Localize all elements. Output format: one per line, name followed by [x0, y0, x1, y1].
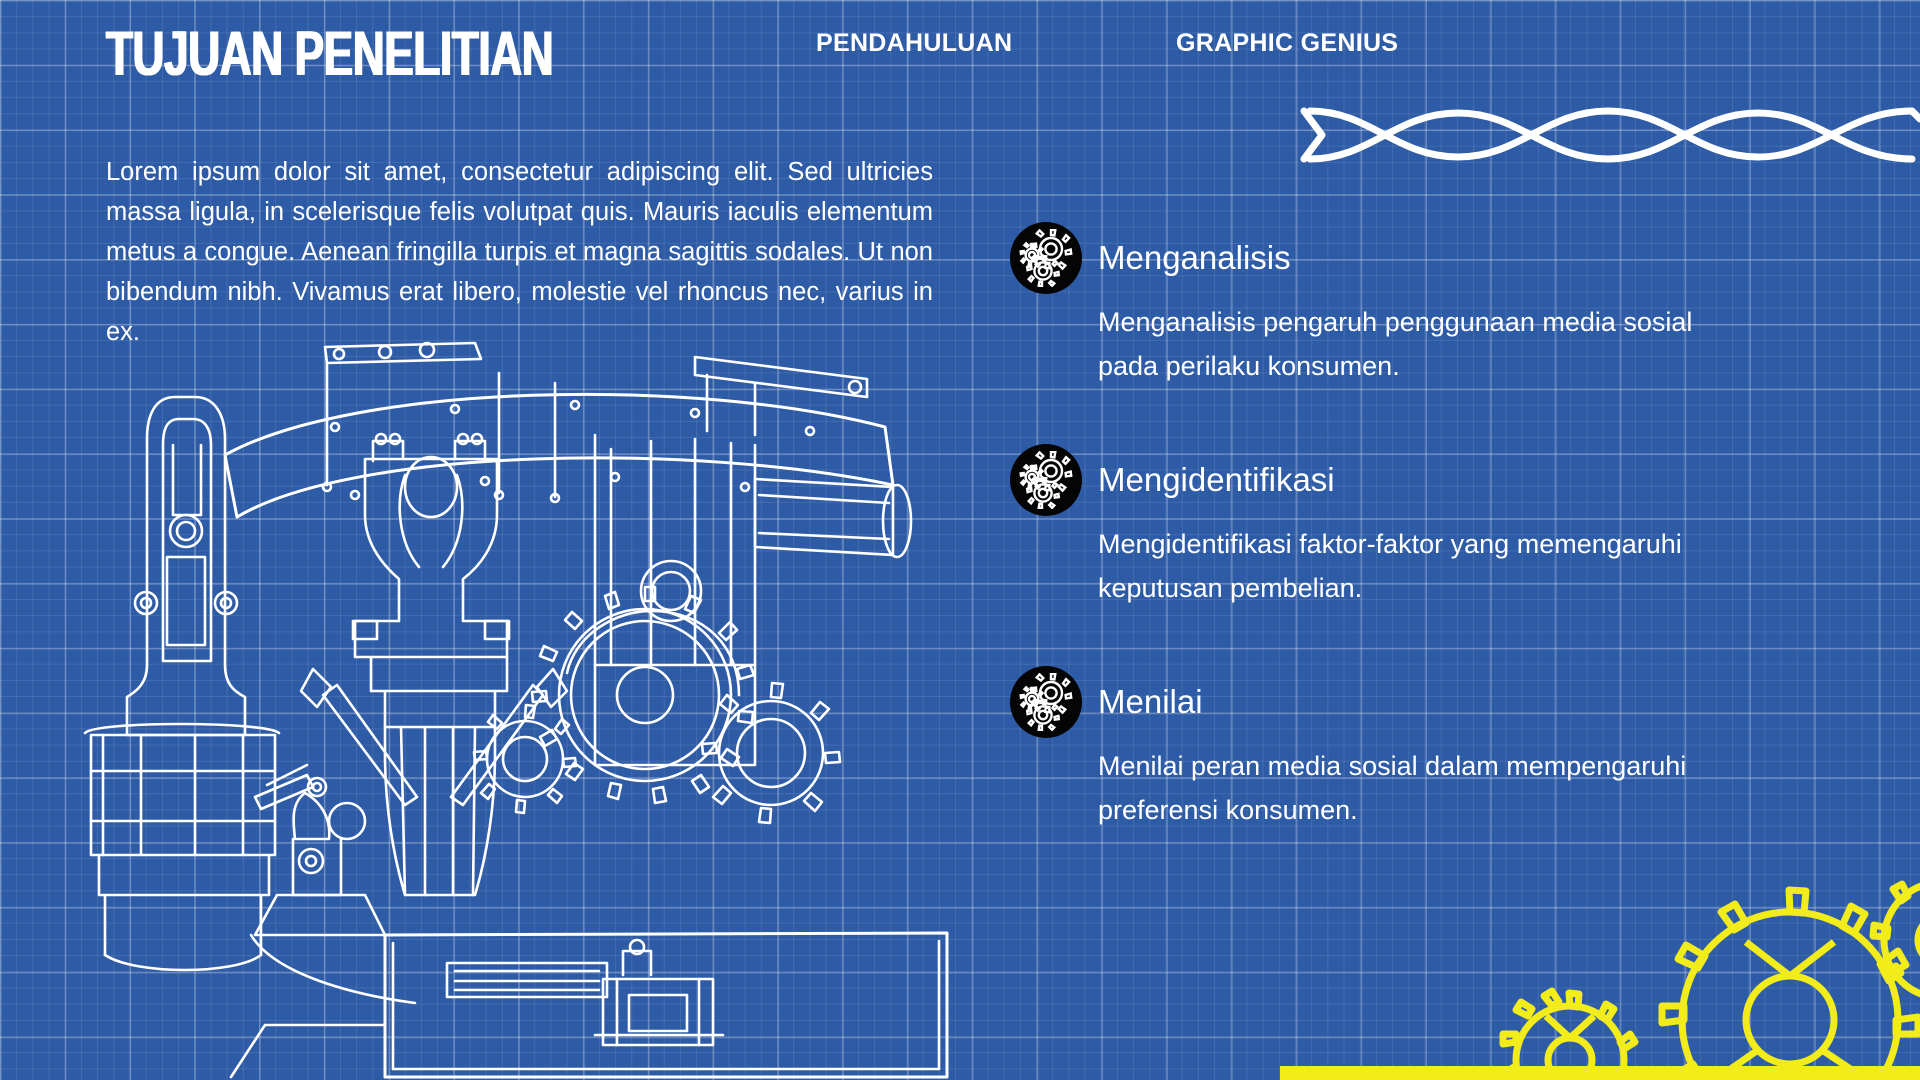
intro-paragraph: Lorem ipsum dolor sit amet, consectetur … — [106, 152, 933, 352]
header-bar: TUJUAN PENELITIAN PENDAHULUAN GRAPHIC GE… — [0, 0, 1920, 100]
gears-icon — [1010, 666, 1082, 738]
objective-item[interactable]: Menilai Menilai peran media sosial dalam… — [1010, 666, 1790, 832]
gears-icon — [1010, 222, 1082, 294]
header-section-label: PENDAHULUAN — [816, 29, 1012, 58]
objective-body: Menilai peran media sosial dalam mempeng… — [1098, 744, 1698, 832]
objective-header: Menganalisis — [1010, 222, 1790, 294]
gears-icon — [1010, 444, 1082, 516]
header-brand-label: GRAPHIC GENIUS — [1176, 29, 1398, 58]
objective-title: Menganalisis — [1098, 239, 1291, 277]
objectives-list: Menganalisis Menganalisis pengaruh pengg… — [1010, 222, 1790, 888]
objective-body: Mengidentifikasi faktor-faktor yang meme… — [1098, 522, 1698, 610]
objective-title: Menilai — [1098, 683, 1203, 721]
objective-item[interactable]: Menganalisis Menganalisis pengaruh pengg… — [1010, 222, 1790, 388]
rope-helix-graphic — [1300, 95, 1920, 173]
objective-header: Mengidentifikasi — [1010, 444, 1790, 516]
objective-item[interactable]: Mengidentifikasi Mengidentifikasi faktor… — [1010, 444, 1790, 610]
page-title: TUJUAN PENELITIAN — [106, 22, 553, 86]
objective-title: Mengidentifikasi — [1098, 461, 1335, 499]
yellow-accent-bar — [1280, 1066, 1920, 1080]
steam-engine-illustration — [55, 335, 955, 1080]
objective-header: Menilai — [1010, 666, 1790, 738]
objective-body: Menganalisis pengaruh penggunaan media s… — [1098, 300, 1698, 388]
